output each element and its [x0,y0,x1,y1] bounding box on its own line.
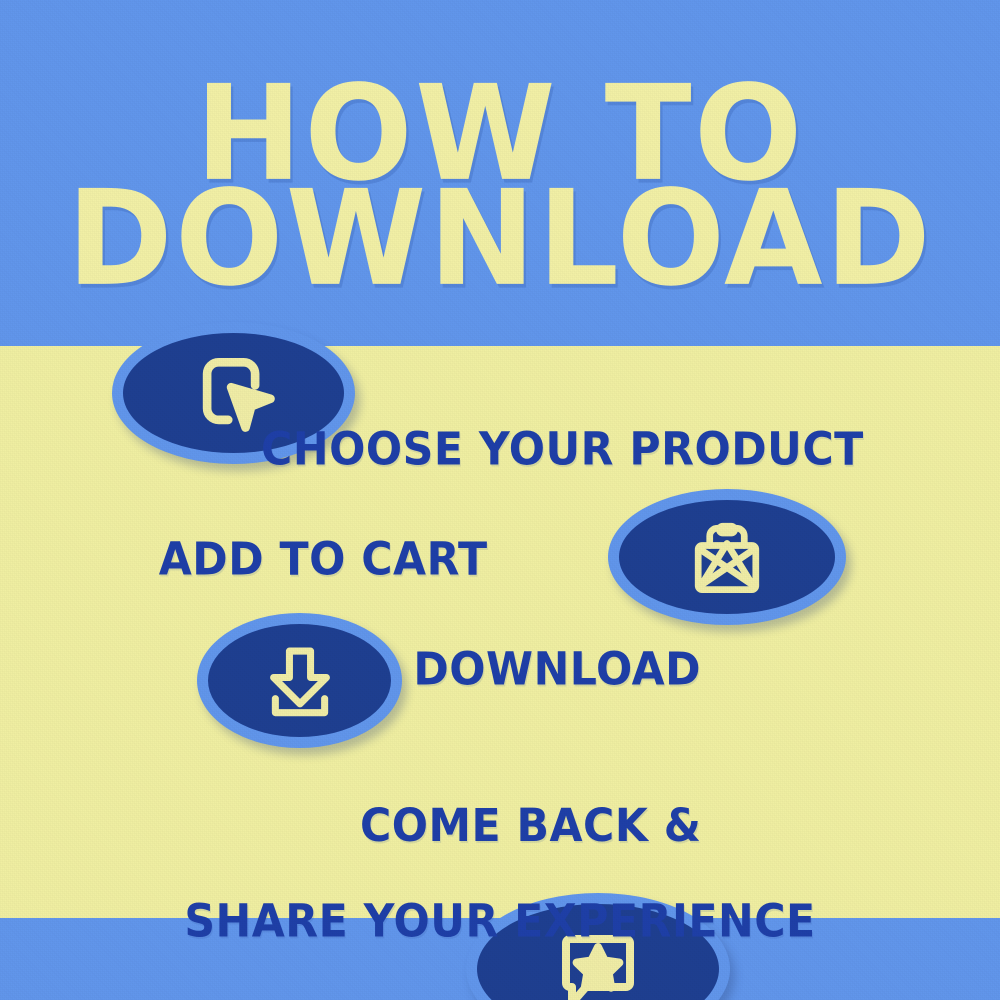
page-title-line-2: DOWNLOAD [0,179,1000,300]
step-1-label: CHOOSE YOUR PRODUCT [0,426,1000,474]
poster-canvas: HOW TO DOWNLOAD CHOOSE YOUR PRODUCT [0,0,1000,1000]
step-3-label: DOWNLOAD [0,646,1000,694]
step-2-label: ADD TO CART [0,536,1000,584]
step-4-label-line-1: COME BACK & [360,799,702,852]
page-title: HOW TO DOWNLOAD [0,74,1000,279]
step-4-label-line-2: SHARE YOUR EXPERIENCE [0,898,1000,946]
step-4-label: COME BACK & SHARE YOUR EXPERIENCE [0,755,1000,1000]
